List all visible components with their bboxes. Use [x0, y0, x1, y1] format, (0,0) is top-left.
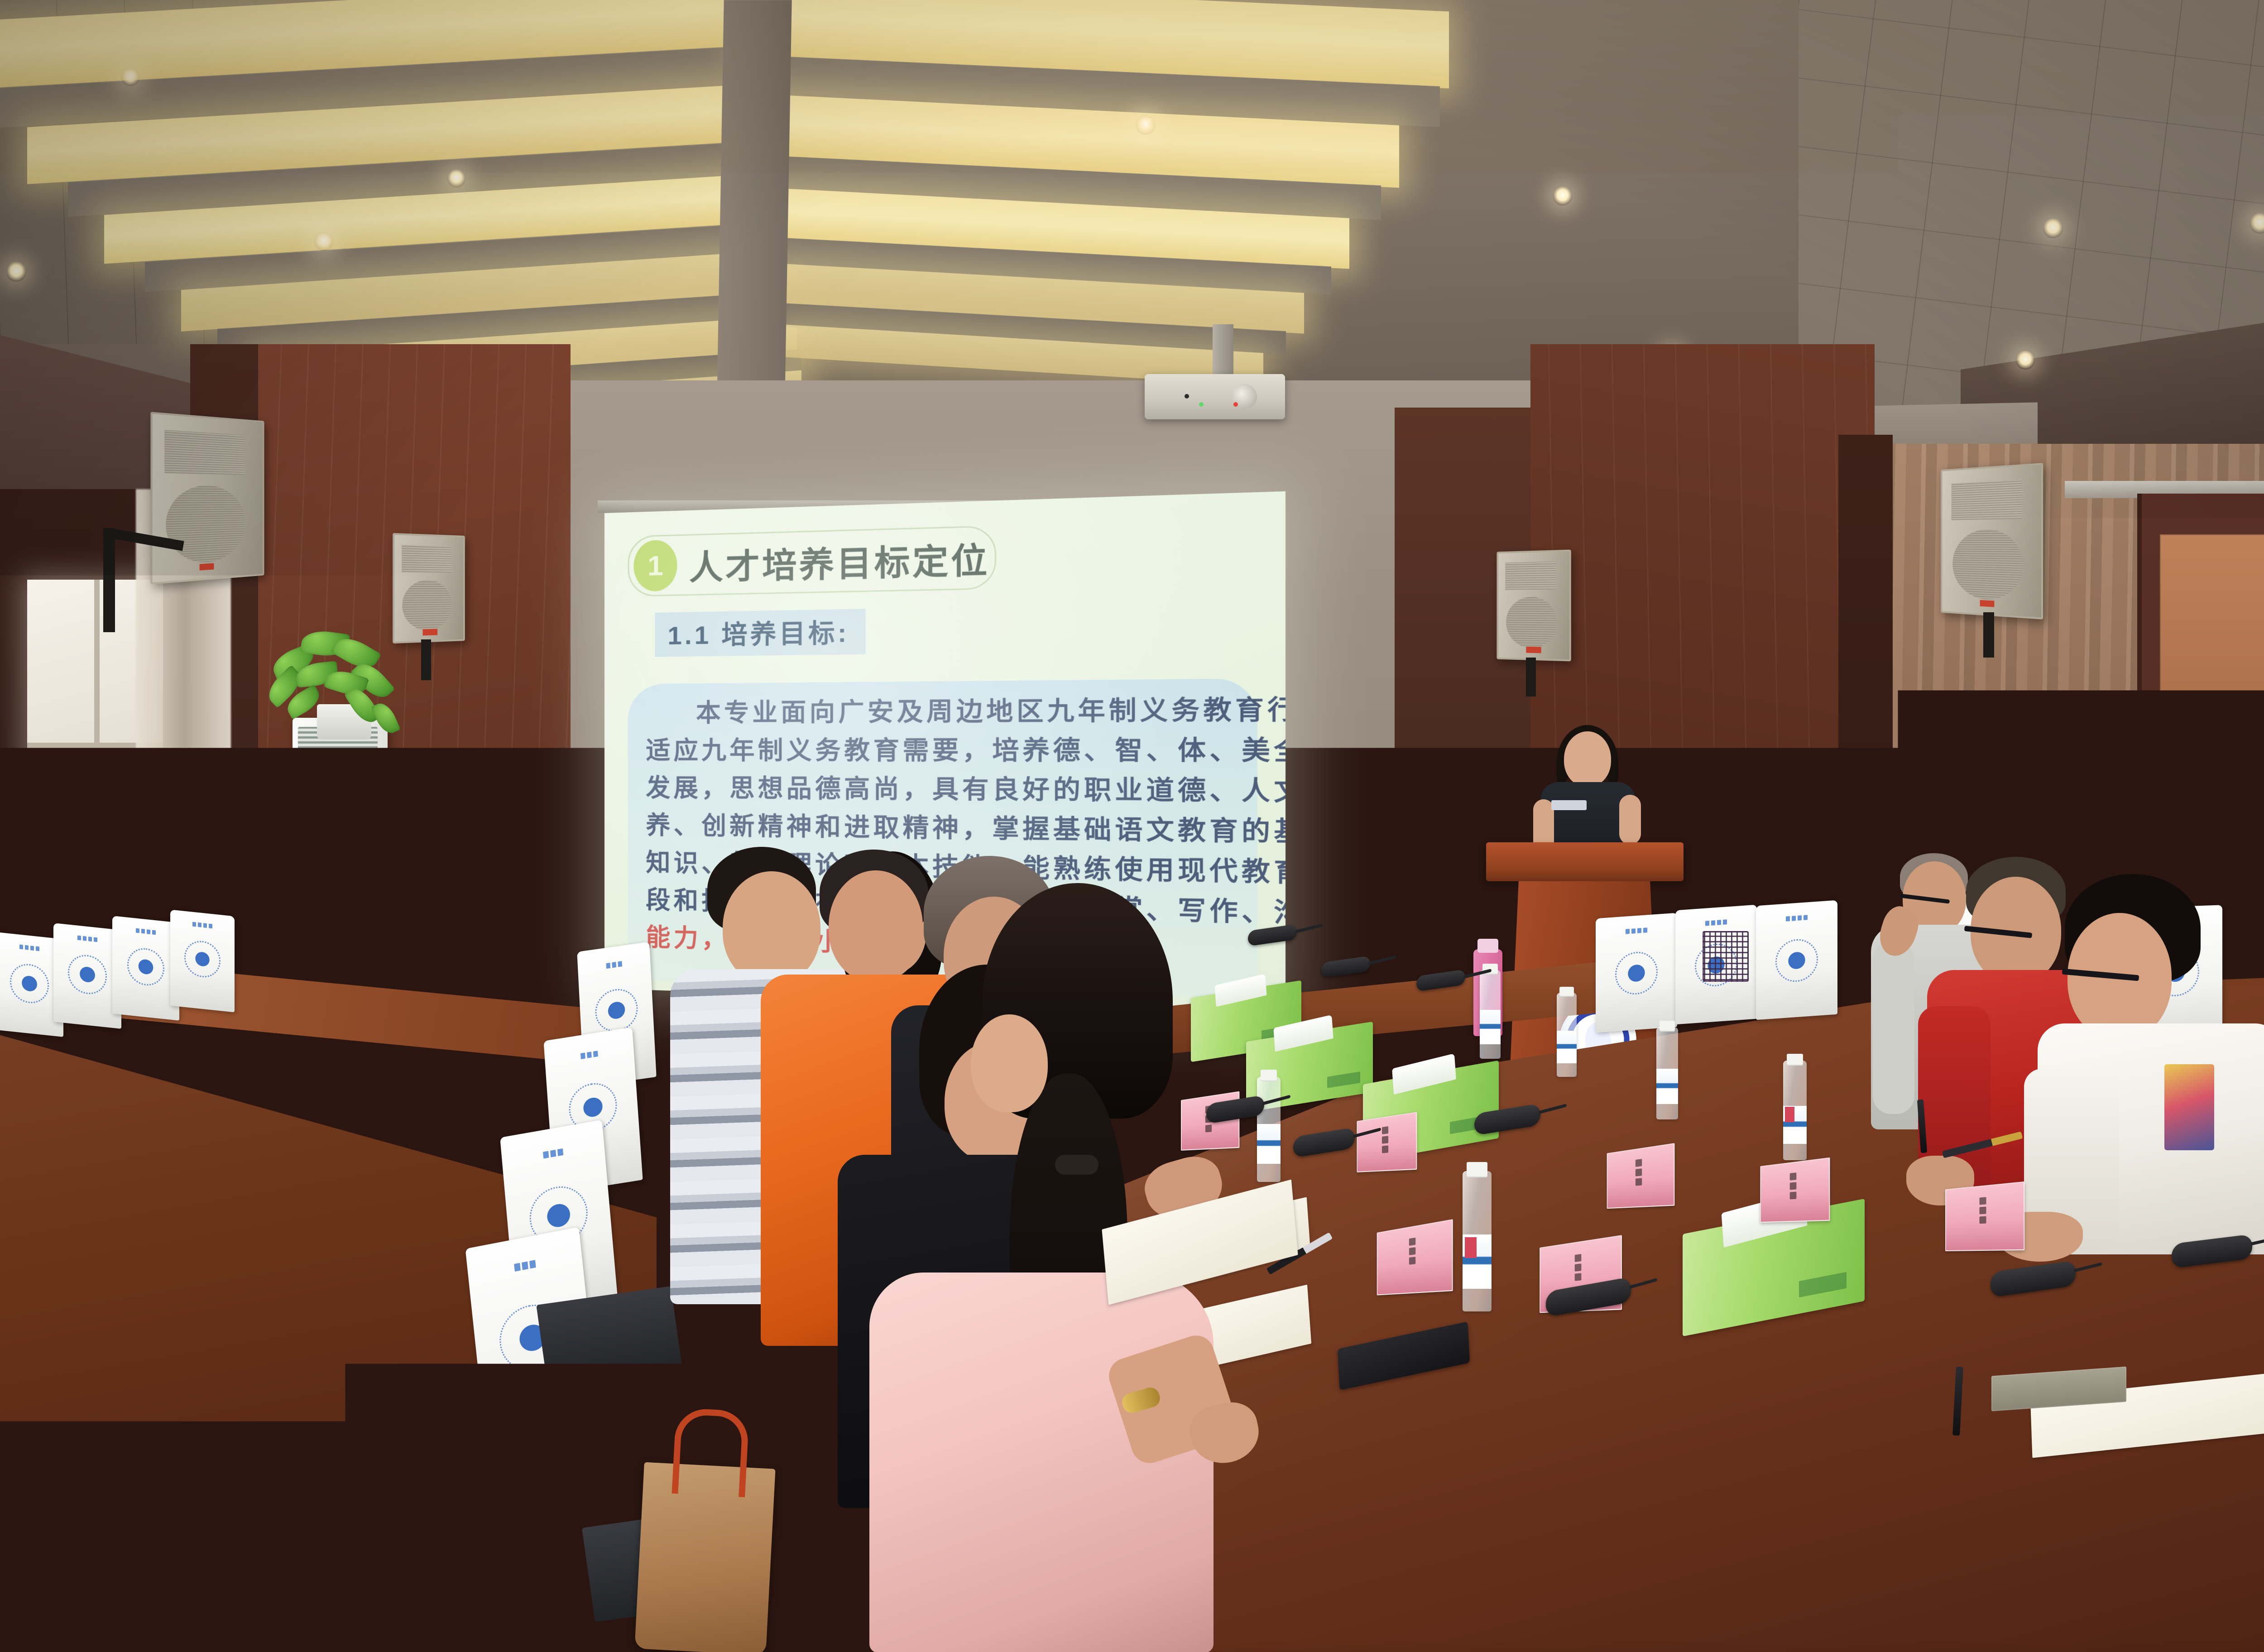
speaker-tweeter-grille	[1952, 480, 2022, 520]
name-card-text	[1636, 1159, 1642, 1186]
floor-standing-air-conditioner[interactable]	[293, 718, 388, 1026]
downlight	[314, 232, 333, 251]
name-card	[1945, 1181, 2024, 1251]
chair-cover-logo-icon	[134, 953, 158, 980]
wall-speaker-center	[1497, 550, 1571, 662]
presenter-arm-right	[1619, 795, 1641, 845]
presenter-at-podium	[1530, 731, 1644, 854]
chair-cover-text	[77, 936, 97, 942]
slide-body-line: 发展，思想品德高尚，具有良好的职业道德、人文素	[646, 769, 1236, 811]
ac-energy-label	[351, 798, 371, 822]
presenter-head	[1564, 731, 1611, 787]
chair-cover-text	[19, 945, 39, 951]
chair-cover-logo-icon	[1783, 946, 1811, 975]
potted-plant	[258, 625, 412, 743]
slide-title: 人才培养目标定位	[689, 532, 990, 590]
handbag-on-chair[interactable]	[634, 1462, 775, 1652]
speaker-mount-left-small	[421, 639, 431, 680]
name-card-text	[1382, 1126, 1388, 1153]
chair-cover-text	[136, 928, 156, 935]
speaker-tweeter-grille	[164, 430, 245, 475]
attendee-white-tee	[2038, 874, 2264, 1254]
projector-mount-pole	[1213, 324, 1233, 375]
slide-title-row: 1 人才培养目标定位	[628, 525, 997, 597]
name-card-text	[1980, 1197, 1986, 1224]
chair-cover-text	[543, 1148, 563, 1158]
projector-power-led	[1199, 402, 1204, 407]
slide-body-line: 适应九年制义务教育需要，培养德、智、体、美全面	[646, 731, 1236, 771]
presenter-name-badge	[1551, 800, 1587, 810]
downlight	[121, 68, 139, 86]
chair-cover-logo-icon	[484, 1481, 536, 1537]
ac-display-panel	[321, 804, 338, 845]
speaker-brand-badge	[1980, 600, 1994, 607]
chair-cover-text	[1786, 915, 1808, 921]
downlight	[2043, 218, 2063, 238]
handbag-strap	[672, 1408, 749, 1498]
projector-status-led	[1233, 402, 1238, 407]
speaker-mount-right	[1983, 612, 1994, 658]
water-bottle[interactable]	[1783, 1061, 1807, 1160]
chair-cover-logo-icon	[1622, 958, 1650, 988]
slide-body-line: 本专业面向广安及周边地区九年制义务教育行业，	[646, 691, 1236, 732]
speaker-mount-center	[1526, 658, 1536, 696]
conference-room-photo: 1 人才培养目标定位 1.1 培养目标: 本专业面向广安及周边地区九年制义务教育…	[0, 0, 2264, 1652]
projector-lamp-led	[1185, 394, 1189, 399]
water-bottle[interactable]	[1257, 1077, 1281, 1182]
name-card	[1760, 1157, 1830, 1223]
chair-cover-logo-icon	[75, 960, 100, 989]
chair-with-logo-cover[interactable]	[112, 916, 179, 1021]
bottle-cap	[1787, 1054, 1803, 1066]
chair-cover-text	[192, 922, 212, 929]
chair-cover-logo-icon	[602, 994, 631, 1026]
speaker-brand-badge	[423, 629, 438, 635]
chair-cover-text	[488, 1422, 512, 1435]
water-bottle[interactable]	[1557, 993, 1577, 1077]
bottle-label	[1257, 1124, 1281, 1164]
name-card	[1377, 1219, 1453, 1295]
name-card-text	[1575, 1254, 1582, 1281]
bottle-cap	[1660, 1021, 1675, 1032]
chair-cover-logo-icon	[17, 970, 42, 998]
door-handle-left[interactable]	[2134, 792, 2142, 842]
chair-cover-text	[1705, 919, 1727, 926]
downlight	[447, 169, 465, 187]
water-bottle[interactable]	[1463, 1171, 1492, 1311]
chair-with-logo-cover[interactable]	[170, 910, 235, 1013]
speaker-woofer-grille	[1952, 529, 2023, 601]
hair-tie-band	[1055, 1155, 1098, 1175]
slide-section-label: 1.1 培养目标:	[655, 609, 865, 657]
speaker-woofer-grille	[1506, 597, 1557, 648]
chair-cover-text	[1626, 927, 1647, 934]
speaker-brand-badge	[199, 563, 214, 571]
speaker-woofer-grille	[166, 485, 245, 565]
bottle-label-accent	[1465, 1237, 1477, 1258]
bottle-label	[1557, 1031, 1577, 1063]
speaker-tweeter-grille	[1505, 562, 1556, 590]
chair-cover-text	[580, 1051, 598, 1059]
chair-cover-text	[606, 961, 622, 969]
chair-seat-cushion	[536, 1286, 683, 1390]
bottle-label	[1656, 1069, 1678, 1104]
downlight	[1553, 187, 1572, 206]
wall-speaker-right	[1941, 463, 2043, 619]
person-head	[971, 1014, 1048, 1112]
person-arm	[1873, 942, 1914, 1114]
water-bottle[interactable]	[1656, 1027, 1678, 1119]
wall-speaker-left-large	[150, 412, 264, 584]
door-handle-right[interactable]	[2168, 792, 2175, 842]
water-bottle[interactable]	[1480, 970, 1501, 1059]
bottle-label-accent	[1785, 1107, 1794, 1122]
tshirt-graphic-print	[2164, 1064, 2214, 1150]
bottle-cap	[1559, 987, 1574, 997]
person-torso	[869, 1273, 1214, 1652]
tissue-brand-mark	[1327, 1071, 1360, 1088]
name-card	[1357, 1112, 1417, 1172]
ceiling-projector	[1145, 374, 1285, 419]
name-card	[1607, 1143, 1675, 1209]
chair-cover-text	[514, 1260, 536, 1272]
speaker-tweeter-grille	[402, 545, 451, 573]
chair-cover-logo-icon	[191, 946, 214, 972]
wire-mesh-basket	[1703, 931, 1749, 982]
name-card-text	[1409, 1238, 1415, 1265]
chair-with-logo-cover[interactable]	[53, 923, 121, 1029]
chair-with-logo-cover[interactable]	[1596, 913, 1677, 1033]
downlight	[6, 262, 26, 282]
bottle-label	[1480, 1010, 1501, 1044]
thermos-cap	[1477, 939, 1498, 953]
speaker-brand-badge	[1526, 647, 1541, 653]
downlight	[2016, 351, 2035, 370]
bottle-cap	[1467, 1162, 1487, 1177]
tissue-brand-mark	[1799, 1272, 1847, 1297]
downlight	[1136, 115, 1156, 135]
chair-with-logo-cover[interactable]	[1756, 900, 1837, 1020]
slide-bullet-number: 1	[633, 539, 677, 591]
bottle-cap	[1261, 1070, 1277, 1081]
speaker-mount-pole-left	[103, 528, 115, 632]
name-card-text	[1790, 1172, 1797, 1199]
speaker-woofer-grille	[403, 580, 452, 631]
podium-top-surface	[1486, 842, 1684, 881]
chair-cover-logo-icon	[576, 1089, 610, 1125]
door-panel-upper	[2160, 534, 2264, 734]
